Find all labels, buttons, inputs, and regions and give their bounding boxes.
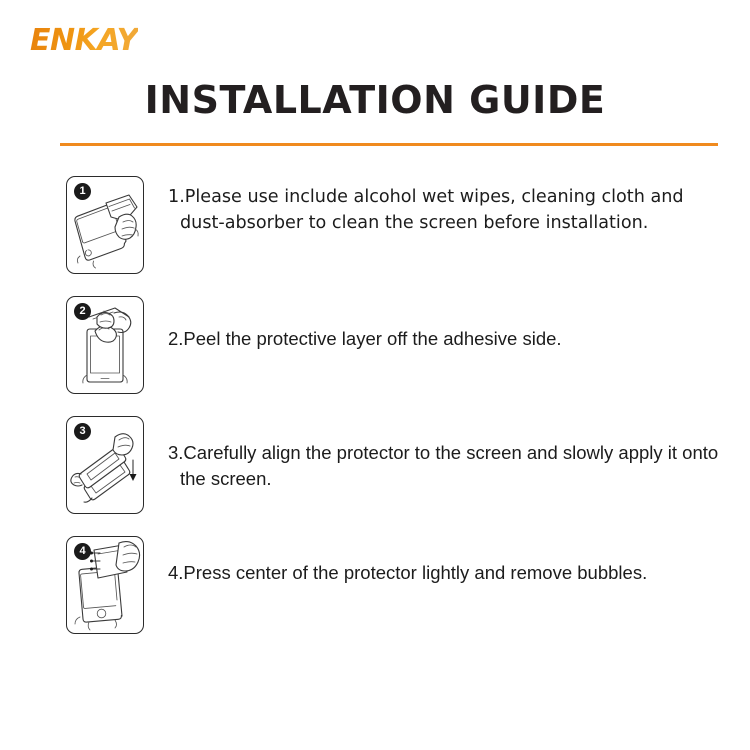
page-title: INSTALLATION GUIDE bbox=[0, 78, 750, 122]
step-badge: 4 bbox=[74, 543, 91, 560]
step-badge: 3 bbox=[74, 423, 91, 440]
brand-logo: ENKAY bbox=[30, 26, 138, 56]
step-text: 1.Please use include alcohol wet wipes, … bbox=[168, 176, 750, 236]
step-badge: 2 bbox=[74, 303, 91, 320]
installation-guide-page: ENKAY INSTALLATION GUIDE bbox=[0, 0, 750, 750]
steps-list: 1 1.Please use include alcohol wet wipes… bbox=[0, 176, 750, 654]
step-item: 3 3.Carefully align the protector to the… bbox=[0, 416, 750, 514]
peel-protective-layer-icon: 2 bbox=[66, 296, 144, 394]
phone-wipe-cloth-icon: 1 bbox=[66, 176, 144, 274]
step-text: 3.Carefully align the protector to the s… bbox=[168, 416, 750, 492]
title-divider bbox=[60, 143, 718, 146]
step-item: 1 1.Please use include alcohol wet wipes… bbox=[0, 176, 750, 274]
step-text: 2.Peel the protective layer off the adhe… bbox=[168, 296, 750, 352]
align-protector-down-arrow-icon: 3 bbox=[66, 416, 144, 514]
press-center-remove-bubbles-icon: 4 bbox=[66, 536, 144, 634]
step-item: 2 2.Peel the protective layer off the ad… bbox=[0, 296, 750, 394]
step-text: 4.Press center of the protector lightly … bbox=[168, 536, 750, 586]
step-badge: 1 bbox=[74, 183, 91, 200]
step-item: 4 4.Press center of the protector lightl… bbox=[0, 536, 750, 634]
